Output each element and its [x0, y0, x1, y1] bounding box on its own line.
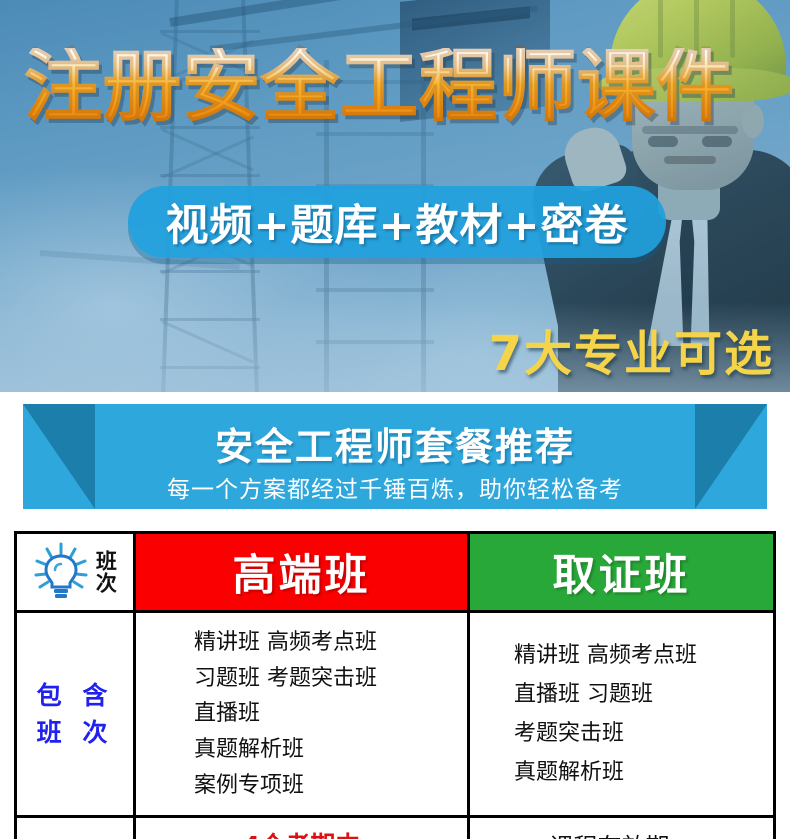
- hero-banner: 注册安全工程师课件 视频+题库+教材+密卷 7大专业可选: [0, 0, 790, 392]
- list-item: 习题班 考题突击班: [136, 661, 467, 697]
- premium-validity-text: 4个考期内: [243, 831, 360, 839]
- hero-subtitle: 7大专业可选: [489, 314, 774, 384]
- cell-certificate-validity: 课程有效期：: [469, 817, 775, 839]
- list-item: 精讲班 高频考点班: [136, 625, 467, 661]
- row-label-line-1: 包 含: [21, 677, 129, 715]
- promo-page: 注册安全工程师课件 视频+题库+教材+密卷 7大专业可选 安全工程师套餐推荐 每…: [0, 0, 790, 839]
- table-row-validity: 4个考期内 课程有效期：: [16, 817, 775, 839]
- list-item: 真题解析班: [470, 753, 773, 792]
- package-comparison-table: 班次 高端班 取证班 包 含 班 次 精讲班 高频考点班: [14, 531, 776, 839]
- section-banner-subtitle: 每一个方案都经过千锤百炼，助你轻松备考: [0, 470, 790, 504]
- list-item: 案例专项班: [136, 768, 467, 804]
- cell-premium-validity: 4个考期内: [135, 817, 469, 839]
- page-title: 注册安全工程师课件: [24, 48, 770, 126]
- section-banner: 安全工程师套餐推荐 每一个方案都经过千锤百炼，助你轻松备考: [0, 392, 790, 525]
- list-item: 直播班: [136, 696, 467, 732]
- table-header-label-cell: 班次: [16, 533, 135, 612]
- table-header-col-premium-label: 高端班: [233, 551, 371, 601]
- row-label-line-2: 班 次: [21, 714, 129, 752]
- hero-feature-pill: 视频+题库+教材+密卷: [128, 186, 666, 258]
- table-row: 包 含 班 次 精讲班 高频考点班 习题班 考题突击班 直播班 真题解析班 案例…: [16, 612, 775, 817]
- list-item: 考题突击班: [470, 714, 773, 753]
- table-header-label: 班次: [94, 550, 117, 594]
- list-item: 真题解析班: [136, 732, 467, 768]
- row-label-validity: [16, 817, 135, 839]
- list-item: 直播班 习题班: [470, 675, 773, 714]
- hero-feature-pill-label: 视频+题库+教材+密卷: [165, 191, 628, 253]
- row-label-included-classes: 包 含 班 次: [16, 612, 135, 817]
- certificate-validity-text: 课程有效期：: [550, 833, 694, 839]
- premium-class-list: 精讲班 高频考点班 习题班 考题突击班 直播班 真题解析班 案例专项班: [136, 625, 467, 803]
- section-banner-title: 安全工程师套餐推荐: [0, 416, 790, 471]
- table-header-col-premium: 高端班: [135, 533, 469, 612]
- lightbulb-icon: [34, 542, 88, 602]
- table-header-col-certificate: 取证班: [469, 533, 775, 612]
- cell-certificate-classes: 精讲班 高频考点班 直播班 习题班 考题突击班 真题解析班: [469, 612, 775, 817]
- table-header-col-certificate-label: 取证班: [553, 551, 691, 601]
- cell-premium-classes: 精讲班 高频考点班 习题班 考题突击班 直播班 真题解析班 案例专项班: [135, 612, 469, 817]
- certificate-class-list: 精讲班 高频考点班 直播班 习题班 考题突击班 真题解析班: [470, 636, 773, 793]
- table-header-row: 班次 高端班 取证班: [16, 533, 775, 612]
- list-item: 精讲班 高频考点班: [470, 636, 773, 675]
